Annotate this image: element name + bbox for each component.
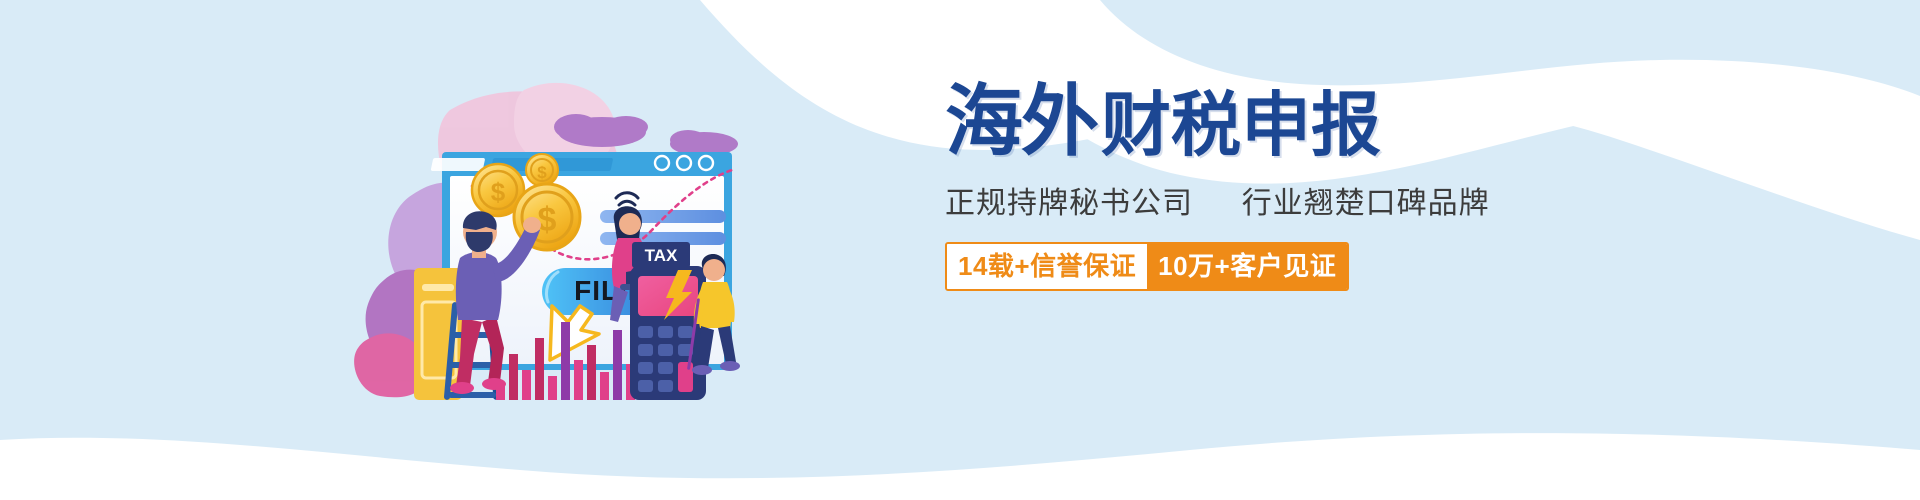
page-title: 海外 财税申报 [945,82,1565,160]
svg-text:$: $ [538,201,557,239]
marketing-banner: FILING $ $ [0,0,1920,500]
calculator-tax-label: TAX [645,246,678,265]
hero-illustration: FILING $ $ [300,70,740,400]
headline-part-primary: 海外 [945,82,1097,160]
badge-group: 14载+信誉保证 10万+客户见证 [945,242,1349,291]
status-badge-years: 14载+信誉保证 [947,244,1147,289]
headline-part-secondary: 财税申报 [1101,90,1381,160]
svg-text:$: $ [537,163,547,182]
subtitle-right: 行业翘楚口碑品牌 [1242,187,1490,220]
coin-icon-small-2: $ [526,154,558,186]
subtitle-left: 正规持牌秘书公司 [945,187,1193,220]
subtitle: 正规持牌秘书公司 行业翘楚口碑品牌 [945,178,1565,222]
svg-text:$: $ [491,177,506,207]
status-badge-customers: 10万+客户见证 [1147,244,1347,289]
promo-text-block: 海外 财税申报 正规持牌秘书公司 行业翘楚口碑品牌 14载+信誉保证 10万+客… [945,82,1565,291]
